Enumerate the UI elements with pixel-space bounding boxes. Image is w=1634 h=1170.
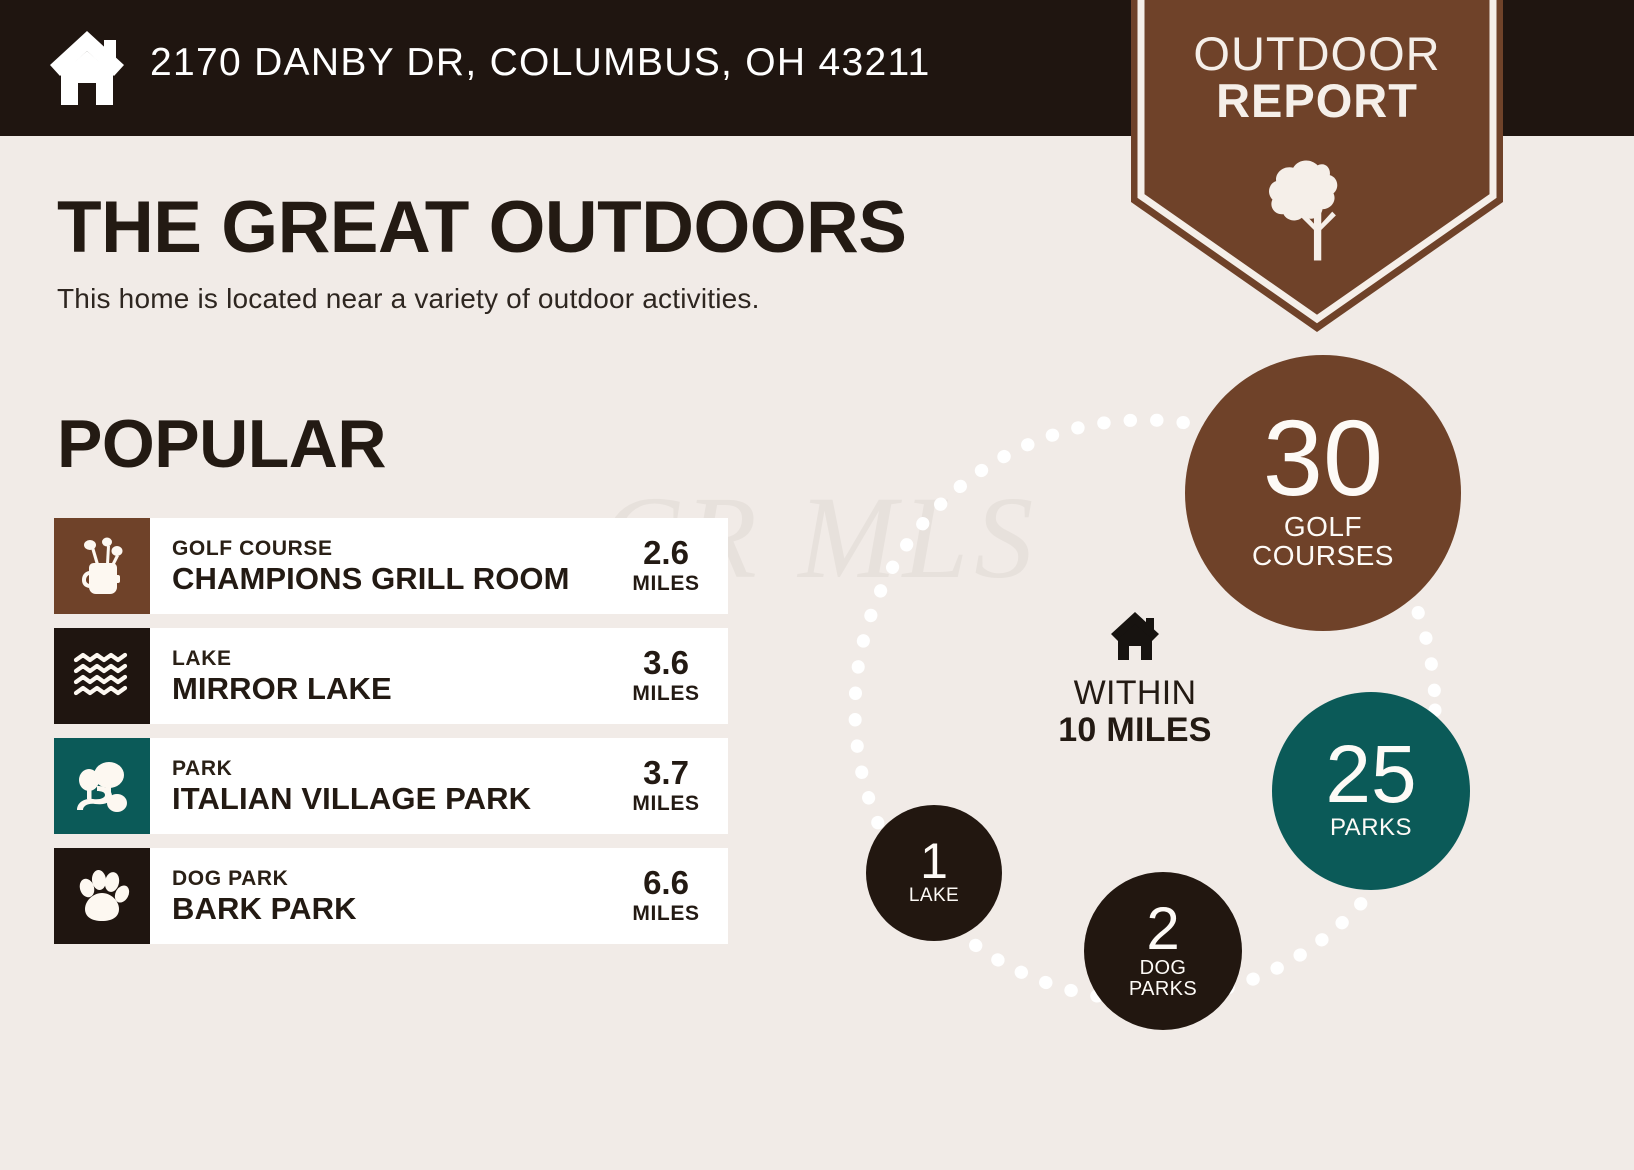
diagram-center-node: WITHIN 10 MILES xyxy=(1020,610,1250,749)
bubble-label-line1: DOG xyxy=(1129,958,1197,978)
bubble-golf-courses[interactable]: 30 GOLF COURSES xyxy=(1185,355,1461,631)
distance-unit: MILES xyxy=(632,682,699,706)
bubble-label: GOLF COURSES xyxy=(1252,513,1394,570)
amenity-text: DOG PARK BARK PARK xyxy=(150,848,610,944)
amenity-name: MIRROR LAKE xyxy=(172,673,610,706)
outdoor-report-banner: OUTDOOR REPORT xyxy=(1131,0,1503,332)
list-item[interactable]: GOLF COURSE CHAMPIONS GRILL ROOM 2.6 MIL… xyxy=(54,518,728,614)
distance-unit: MILES xyxy=(632,902,699,926)
distance-unit: MILES xyxy=(632,792,699,816)
distance-value: 6.6 xyxy=(643,866,689,899)
page-title: THE GREAT OUTDOORS xyxy=(57,186,906,269)
bubble-count: 2 xyxy=(1146,901,1179,956)
home-icon xyxy=(1107,610,1163,662)
banner-shield-shape xyxy=(1131,0,1503,332)
distance-value: 2.6 xyxy=(643,536,689,569)
bubble-label: PARKS xyxy=(1330,816,1412,840)
amenity-category: DOG PARK xyxy=(172,867,610,890)
bubble-lake[interactable]: 1 LAKE xyxy=(866,805,1002,941)
amenity-name: CHAMPIONS GRILL ROOM xyxy=(172,563,610,596)
amenity-category: PARK xyxy=(172,757,610,780)
golf-bag-icon xyxy=(76,537,128,595)
amenity-icon-tile xyxy=(54,518,150,614)
bubble-count: 25 xyxy=(1325,737,1416,812)
bubble-count: 30 xyxy=(1263,408,1383,507)
distance-value: 3.6 xyxy=(643,646,689,679)
popular-amenities-list: GOLF COURSE CHAMPIONS GRILL ROOM 2.6 MIL… xyxy=(54,518,728,958)
within-label-line1: WITHIN xyxy=(1020,676,1250,712)
amenity-category: GOLF COURSE xyxy=(172,537,610,560)
amenity-icon-tile xyxy=(54,628,150,724)
waves-icon xyxy=(72,651,132,701)
bubble-dog-parks[interactable]: 2 DOG PARKS xyxy=(1084,872,1242,1030)
bubble-label-line2: PARKS xyxy=(1129,979,1197,999)
distance-unit: MILES xyxy=(632,572,699,596)
bubble-label-line2: COURSES xyxy=(1252,542,1394,571)
bubble-label: LAKE xyxy=(909,886,959,905)
amenity-name: ITALIAN VILLAGE PARK xyxy=(172,783,610,816)
within-label-line2: 10 MILES xyxy=(1020,712,1250,749)
amenity-name: BARK PARK xyxy=(172,893,610,926)
outdoor-report-page: CR MLS 2170 DANBY DR, COLUMBUS, OH 43211… xyxy=(0,0,1634,1170)
amenity-distance: 2.6 MILES xyxy=(610,518,728,614)
bubble-count: 1 xyxy=(920,838,948,884)
amenity-text: LAKE MIRROR LAKE xyxy=(150,628,610,724)
list-item[interactable]: LAKE MIRROR LAKE 3.6 MILES xyxy=(54,628,728,724)
amenity-text: PARK ITALIAN VILLAGE PARK xyxy=(150,738,610,834)
section-title-popular: POPULAR xyxy=(57,405,386,483)
park-trees-icon xyxy=(73,758,131,814)
amenity-distance: 3.7 MILES xyxy=(610,738,728,834)
amenity-text: GOLF COURSE CHAMPIONS GRILL ROOM xyxy=(150,518,610,614)
distance-value: 3.7 xyxy=(643,756,689,789)
amenity-icon-tile xyxy=(54,738,150,834)
amenity-distance: 6.6 MILES xyxy=(610,848,728,944)
amenity-icon-tile xyxy=(54,848,150,944)
property-address: 2170 DANBY DR, COLUMBUS, OH 43211 xyxy=(150,41,931,85)
page-subtitle: This home is located near a variety of o… xyxy=(57,283,760,315)
bubble-label: DOG PARKS xyxy=(1129,958,1197,999)
bubble-label-line1: GOLF xyxy=(1252,513,1394,542)
amenity-distance: 3.6 MILES xyxy=(610,628,728,724)
list-item[interactable]: PARK ITALIAN VILLAGE PARK 3.7 MILES xyxy=(54,738,728,834)
list-item[interactable]: DOG PARK BARK PARK 6.6 MILES xyxy=(54,848,728,944)
bubble-parks[interactable]: 25 PARKS xyxy=(1272,692,1470,890)
amenity-category: LAKE xyxy=(172,647,610,670)
home-icon xyxy=(44,28,130,108)
paw-print-icon xyxy=(74,869,130,923)
